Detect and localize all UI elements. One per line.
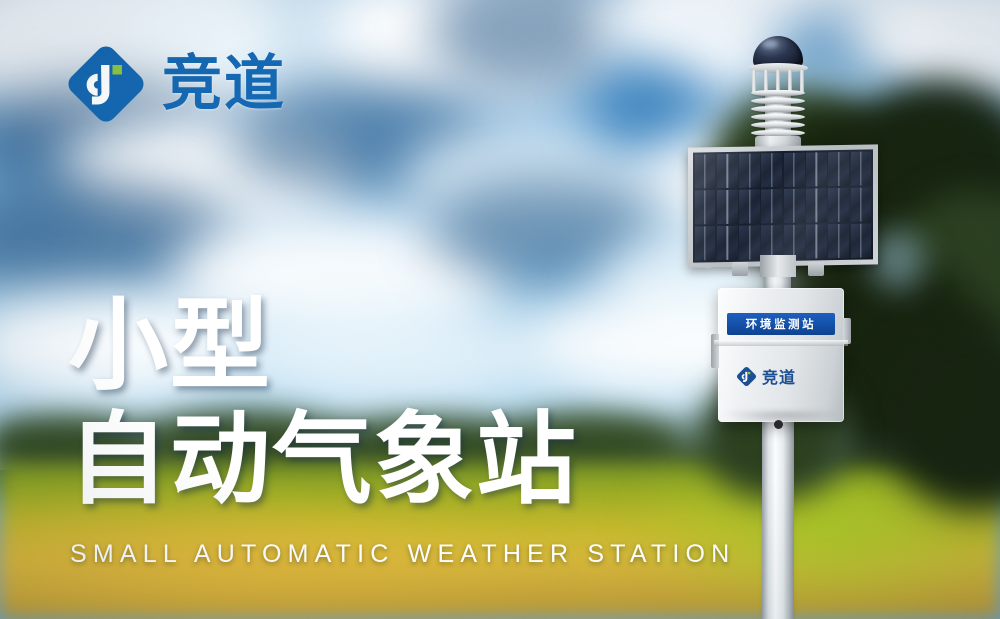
brand-logo[interactable]: 竞道 (68, 46, 286, 122)
solar-cell-grid (693, 149, 873, 262)
solar-panel (688, 144, 878, 267)
weather-station-product: 环境监测站 竞道 (640, 0, 920, 619)
brand-name: 竞道 (162, 54, 286, 114)
solar-panel-bracket (760, 255, 796, 277)
ultrasonic-weather-sensor (738, 36, 818, 156)
enclosure-seam (714, 340, 848, 346)
headline-line-1: 小型 (68, 296, 578, 396)
solar-panel-frame (688, 144, 878, 267)
solar-panel-lug (732, 262, 748, 276)
enclosure-brand-name: 竞道 (762, 364, 796, 388)
enclosure-box: 环境监测站 竞道 (718, 288, 844, 422)
headline-block: 小型 自动气象站 (68, 296, 578, 510)
enclosure-banner-label: 环境监测站 (746, 316, 817, 332)
enclosure-brand-logo: 竞道 (736, 364, 828, 388)
sensor-pillars (752, 70, 804, 92)
pole-bolt (774, 420, 783, 429)
enclosure-banner: 环境监测站 (727, 313, 835, 335)
jingdao-diamond-logo-icon (736, 366, 757, 387)
jingdao-diamond-logo-icon (68, 46, 144, 122)
headline-line-2: 自动气象站 (68, 410, 578, 510)
solar-panel-lug (808, 262, 824, 276)
mounting-pole-lower (762, 420, 794, 619)
product-banner: 环境监测站 竞道 (0, 0, 1000, 619)
subtitle: SMALL AUTOMATIC WEATHER STATION (70, 540, 735, 569)
dome-highlight (762, 40, 778, 48)
radiation-shield (751, 90, 805, 138)
